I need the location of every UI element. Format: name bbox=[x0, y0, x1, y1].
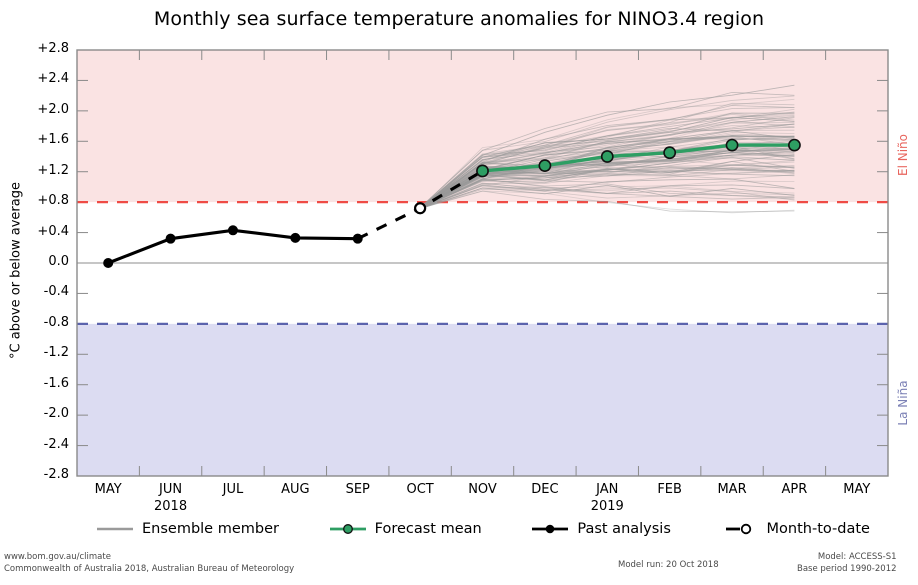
footer-website: www.bom.gov.au/climate bbox=[4, 552, 294, 564]
past-analysis-marker bbox=[228, 225, 238, 235]
footer-model-run: Model run: 20 Oct 2018 bbox=[618, 560, 719, 572]
legend-label-past-analysis: Past analysis bbox=[577, 521, 671, 537]
footer-copyright: Commonwealth of Australia 2018, Australi… bbox=[4, 564, 294, 576]
chart-container: Monthly sea surface temperature anomalie… bbox=[0, 0, 918, 585]
footer-base-period: Base period 1990-2012 bbox=[797, 564, 897, 576]
green-line-marker-icon bbox=[328, 522, 368, 536]
forecast-mean-marker bbox=[664, 147, 675, 158]
month-to-date-marker bbox=[415, 203, 425, 213]
past-analysis-marker bbox=[290, 233, 300, 243]
black-line-open-marker-icon bbox=[720, 522, 760, 536]
legend-item-forecast-mean: Forecast mean bbox=[328, 521, 482, 537]
legend-item-past-analysis: Past analysis bbox=[530, 521, 671, 537]
legend-item-ensemble-member: Ensemble member bbox=[95, 521, 279, 537]
past-analysis-marker bbox=[103, 258, 113, 268]
plot-area bbox=[0, 0, 918, 585]
forecast-mean-marker bbox=[477, 165, 488, 176]
footer-right: Model: ACCESS-S1 Base period 1990-2012 bbox=[797, 552, 897, 575]
forecast-mean-marker bbox=[539, 160, 550, 171]
footer-model-name: Model: ACCESS-S1 bbox=[797, 552, 897, 564]
black-line-marker-icon bbox=[530, 522, 570, 536]
legend-label-forecast-mean: Forecast mean bbox=[375, 521, 482, 537]
footer-left: www.bom.gov.au/climate Commonwealth of A… bbox=[4, 552, 294, 575]
forecast-mean-marker bbox=[726, 139, 737, 150]
shaded-region-la-nina bbox=[77, 324, 888, 476]
forecast-mean-marker bbox=[789, 139, 800, 150]
chart-legend: Ensemble member Forecast mean Past analy… bbox=[77, 516, 888, 542]
past-analysis-marker bbox=[166, 234, 176, 244]
past-analysis-marker bbox=[353, 234, 363, 244]
legend-item-month-to-date: Month-to-date bbox=[720, 521, 870, 537]
legend-label-ensemble-member: Ensemble member bbox=[142, 521, 279, 537]
grey-line-icon bbox=[95, 522, 135, 536]
legend-label-month-to-date: Month-to-date bbox=[767, 521, 870, 537]
forecast-mean-marker bbox=[602, 151, 613, 162]
